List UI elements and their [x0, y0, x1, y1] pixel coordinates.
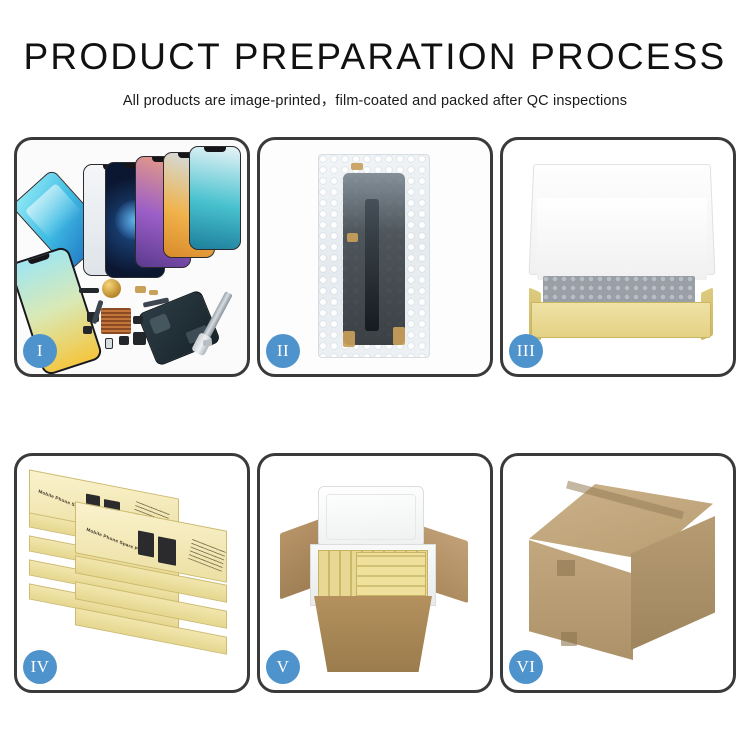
component-chip [83, 326, 92, 334]
component-chip [135, 286, 146, 293]
box-text-lines [188, 538, 226, 572]
wrapped-flex-strip [365, 199, 379, 331]
step-badge-2: II [266, 334, 300, 368]
step-card-6: VI [500, 453, 736, 693]
yellow-boxes-inside [356, 552, 426, 596]
component-chip [133, 316, 143, 324]
bubble-wrap-bag [318, 154, 430, 358]
foam-sheet [537, 198, 707, 280]
step-card-5: V [257, 453, 493, 693]
tape-piece [351, 163, 363, 170]
header: PRODUCT PREPARATION PROCESS All products… [0, 0, 750, 110]
box-front-panel [531, 302, 711, 338]
component-chip [105, 338, 113, 349]
tape-piece [343, 331, 355, 347]
page-title: PRODUCT PREPARATION PROCESS [0, 38, 750, 75]
component-chip [79, 288, 99, 293]
process-steps-grid: I II [14, 137, 736, 693]
tape-piece [347, 233, 358, 242]
step-card-3: III [500, 137, 736, 377]
page-subtitle: All products are image-printed，film-coat… [0, 89, 750, 110]
step-card-4: Mobile Phone Spare Parts Mobile Phone Sp… [14, 453, 250, 693]
step-badge-1: I [23, 334, 57, 368]
component-screw [203, 340, 212, 346]
component-chip [149, 290, 158, 295]
box-phone-graphic [138, 530, 154, 557]
step-card-1: I [14, 137, 250, 377]
phone-screen-teal [189, 146, 241, 250]
foam-lid [318, 486, 424, 548]
step-badge-4: IV [23, 650, 57, 684]
step-badge-5: V [266, 650, 300, 684]
component-chip [133, 332, 146, 345]
step-badge-3: III [509, 334, 543, 368]
product-preparation-infographic: PRODUCT PREPARATION PROCESS All products… [0, 0, 750, 750]
copper-grid-component [101, 308, 131, 334]
step-card-2: II [257, 137, 493, 377]
component-chip [119, 336, 129, 345]
step-badge-6: VI [509, 650, 543, 684]
tape-piece [393, 327, 405, 345]
carton-left-panel [529, 540, 633, 660]
carton-tape-mark [561, 632, 577, 646]
box-phone-graphic [158, 536, 176, 565]
carton-tape-mark [557, 560, 575, 576]
retail-box-stack: Mobile Phone Spare Parts Mobile Phone Sp… [23, 474, 247, 680]
gold-coil-component [102, 279, 121, 298]
carton-front-panel [306, 596, 440, 672]
